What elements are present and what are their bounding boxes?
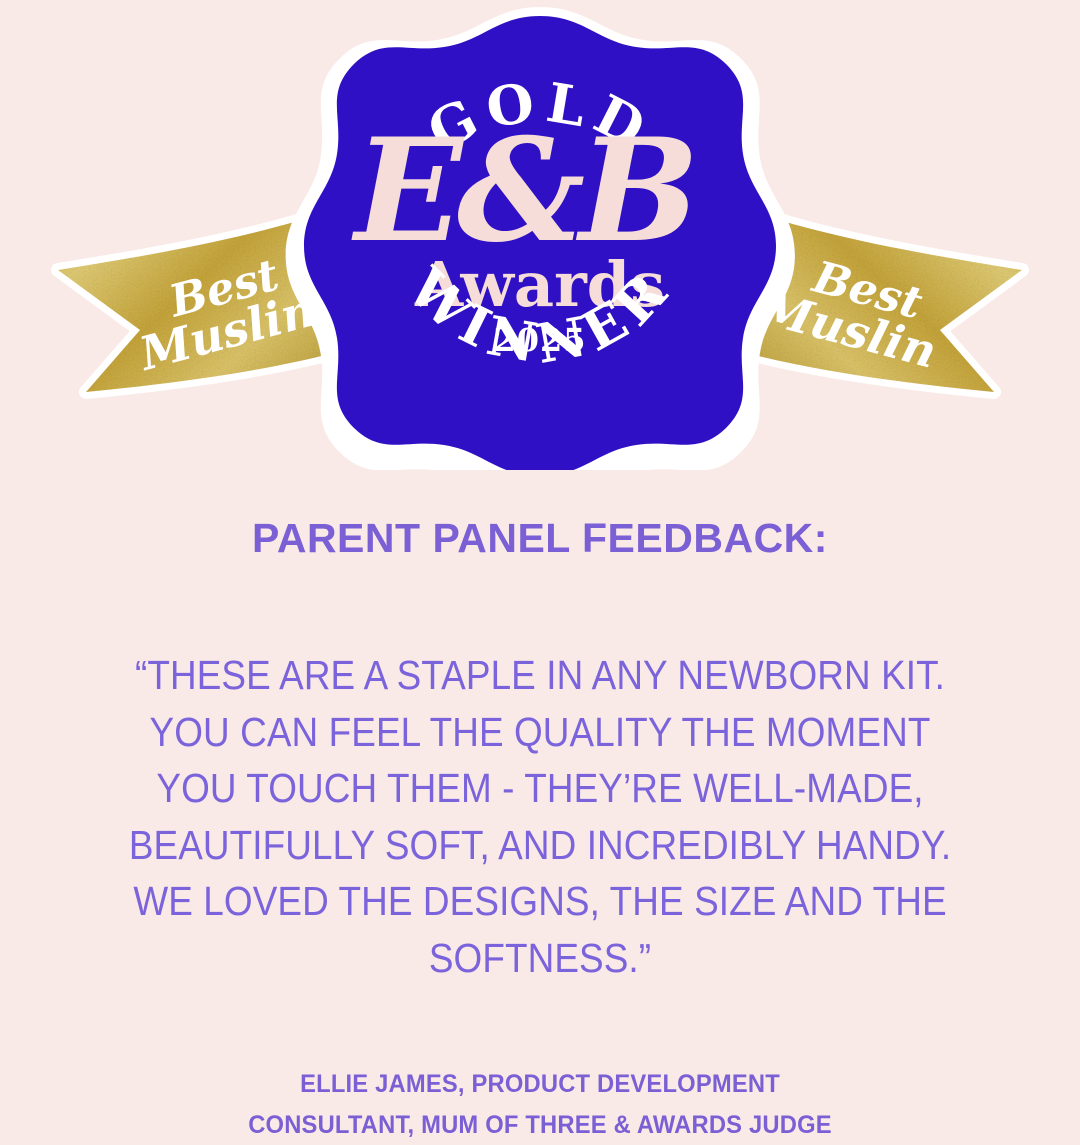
award-badge-artwork: Best Muslin Best Muslin GOLD E&B — [0, 0, 1080, 470]
page-title: PARENT PANEL FEEDBACK: — [0, 470, 1080, 559]
award-seal-badge: GOLD E&B Awards 2025 WINNER — [286, 7, 795, 470]
award-testimonial-poster: Best Muslin Best Muslin GOLD E&B — [0, 0, 1080, 1080]
testimonial-text-block: PARENT PANEL FEEDBACK: “THESE ARE A STAP… — [0, 470, 1080, 1145]
testimonial-quote: “THESE ARE A STAPLE IN ANY NEWBORN KIT. … — [54, 559, 1026, 986]
attribution-line-2: CONSULTANT, MUM OF THREE & AWARDS JUDGE — [122, 1105, 958, 1145]
testimonial-attribution: ELLIE JAMES, PRODUCT DEVELOPMENT CONSULT… — [27, 986, 1053, 1145]
attribution-line-1: ELLIE JAMES, PRODUCT DEVELOPMENT — [122, 1064, 958, 1105]
